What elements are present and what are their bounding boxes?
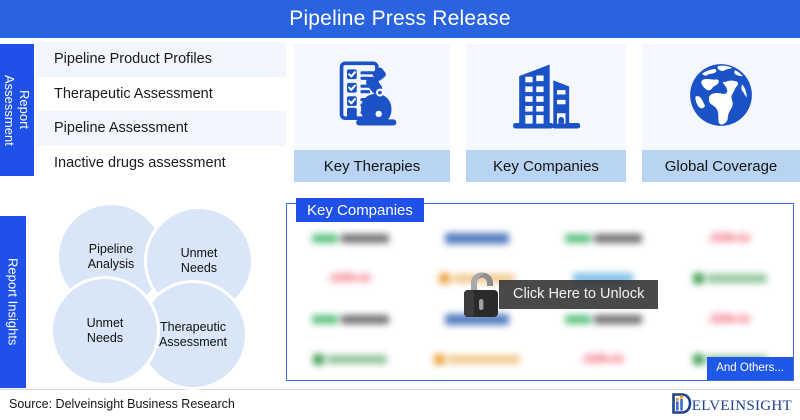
company-logo (287, 218, 414, 259)
card-icon-area (466, 44, 626, 150)
delveinsight-wordmark: ELVEINSIGHT (692, 398, 792, 415)
source-note: Source: Delveinsight Business Research (9, 397, 235, 411)
list-item[interactable]: Therapeutic Assessment (36, 77, 286, 112)
card-global-coverage[interactable]: Global Coverage (642, 44, 800, 182)
company-logo: Abbvie (540, 340, 667, 381)
venn-circle-label: Unmet Needs (181, 246, 218, 276)
delveinsight-logo: ELVEINSIGHT (672, 393, 792, 419)
ribbon-report-assessment-label: Report Assessment (2, 75, 32, 146)
company-logo (540, 218, 667, 259)
company-logo (287, 299, 414, 340)
page-footer: Source: Delveinsight Business Research E… (0, 389, 800, 420)
unlock-overlay[interactable]: Click Here to Unlock (455, 267, 658, 321)
globe-icon (683, 57, 759, 138)
company-logo (667, 259, 794, 300)
report-insights-venn: Pipeline Analysis Unmet Needs Unmet Need… (42, 202, 274, 388)
feature-cards: Key Therapies (294, 44, 800, 182)
company-logo (414, 340, 541, 381)
ribbon-report-insights: Report Insights (0, 216, 26, 388)
ribbon-report-insights-label: Report Insights (6, 258, 21, 345)
card-icon-area (294, 44, 450, 150)
office-buildings-icon (507, 56, 585, 139)
list-item-label: Pipeline Assessment (54, 120, 188, 136)
report-assessment-list: Pipeline Product Profiles Therapeutic As… (36, 42, 286, 180)
company-logo (414, 218, 541, 259)
list-item[interactable]: Pipeline Assessment (36, 111, 286, 146)
card-icon-area (642, 44, 800, 150)
card-label: Global Coverage (642, 150, 800, 182)
venn-circle-label: Pipeline Analysis (88, 242, 135, 272)
card-key-companies[interactable]: Key Companies (466, 44, 626, 182)
venn-circle: Unmet Needs (50, 276, 160, 386)
page-header: Pipeline Press Release (0, 0, 800, 38)
delveinsight-monogram-icon (672, 393, 692, 419)
card-key-therapies[interactable]: Key Therapies (294, 44, 450, 182)
key-companies-badge: Key Companies (296, 198, 424, 222)
checklist-microscope-icon (333, 56, 411, 139)
unlock-tooltip: Click Here to Unlock (499, 280, 658, 309)
company-logo: Abbvie (667, 218, 794, 259)
list-item-label: Therapeutic Assessment (54, 86, 213, 102)
venn-circle-label: Unmet Needs (87, 316, 124, 346)
list-item[interactable]: Inactive drugs assessment (36, 146, 286, 181)
and-others-badge[interactable]: And Others... (707, 357, 793, 380)
company-logo: Abbvie (287, 259, 414, 300)
press-release-infographic: Pipeline Press Release Report Assessment… (0, 0, 800, 420)
list-item[interactable]: Pipeline Product Profiles (36, 42, 286, 77)
card-label: Key Therapies (294, 150, 450, 182)
ribbon-report-assessment: Report Assessment (0, 44, 34, 176)
list-item-label: Inactive drugs assessment (54, 155, 226, 171)
list-item-label: Pipeline Product Profiles (54, 51, 212, 67)
venn-circle-label: Therapeutic Assessment (159, 320, 227, 350)
card-label: Key Companies (466, 150, 626, 182)
company-logo: Abbvie (667, 299, 794, 340)
page-title: Pipeline Press Release (289, 7, 511, 31)
company-logo (287, 340, 414, 381)
